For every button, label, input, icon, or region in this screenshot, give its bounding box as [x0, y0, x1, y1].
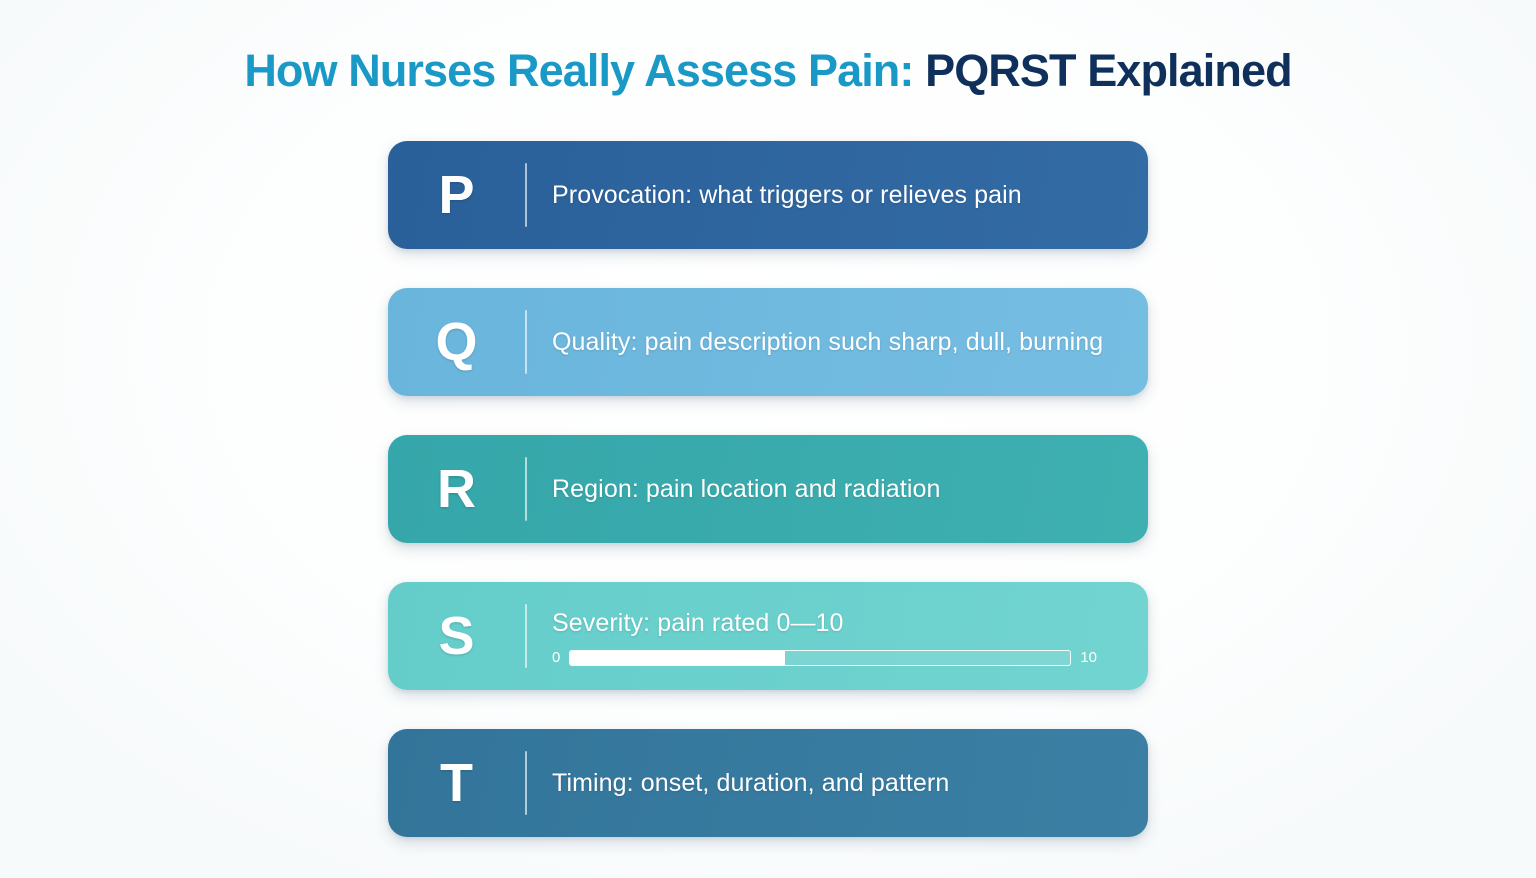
card-text-r: Region: pain location and radiation [552, 473, 1118, 506]
page-title-primary: How Nurses Really Assess Pain: [244, 45, 913, 96]
pqrst-card-q: Q Quality: pain description such sharp, … [388, 288, 1148, 396]
card-letter-t: T [440, 756, 473, 810]
pqrst-card-p: P Provocation: what triggers or relieves… [388, 141, 1148, 249]
card-text-t: Timing: onset, duration, and pattern [552, 767, 1118, 800]
card-letter-s: S [438, 609, 474, 663]
page-title-secondary: PQRST Explained [925, 45, 1292, 96]
page-title: How Nurses Really Assess Pain: PQRST Exp… [0, 44, 1536, 98]
card-letter-r: R [437, 462, 476, 516]
letter-zone-s: S [388, 582, 525, 690]
severity-slider[interactable]: 0 10 [552, 650, 1097, 666]
pqrst-card-t: T Timing: onset, duration, and pattern [388, 729, 1148, 837]
letter-zone-p: P [388, 141, 525, 249]
letter-zone-r: R [388, 435, 525, 543]
severity-slider-max-label: 10 [1080, 650, 1097, 665]
card-text-s: Severity: pain rated 0—10 [552, 607, 1118, 640]
letter-zone-q: Q [388, 288, 525, 396]
card-text-q: Quality: pain description such sharp, du… [552, 326, 1118, 359]
card-body-r: Region: pain location and radiation [527, 435, 1148, 543]
card-body-s: Severity: pain rated 0—10 0 10 [527, 582, 1148, 690]
card-letter-q: Q [435, 315, 477, 369]
page-title-space [913, 45, 925, 96]
letter-zone-t: T [388, 729, 525, 837]
card-text-p: Provocation: what triggers or relieves p… [552, 179, 1118, 212]
card-body-q: Quality: pain description such sharp, du… [527, 288, 1148, 396]
severity-slider-track[interactable] [569, 650, 1071, 666]
pqrst-card-r: R Region: pain location and radiation [388, 435, 1148, 543]
card-letter-p: P [438, 168, 474, 222]
severity-slider-min-label: 0 [552, 650, 560, 665]
infographic-canvas: How Nurses Really Assess Pain: PQRST Exp… [0, 0, 1536, 878]
pqrst-card-list: P Provocation: what triggers or relieves… [388, 141, 1148, 837]
pqrst-card-s: S Severity: pain rated 0—10 0 10 [388, 582, 1148, 690]
card-body-p: Provocation: what triggers or relieves p… [527, 141, 1148, 249]
severity-slider-fill [570, 651, 785, 665]
card-body-t: Timing: onset, duration, and pattern [527, 729, 1148, 837]
